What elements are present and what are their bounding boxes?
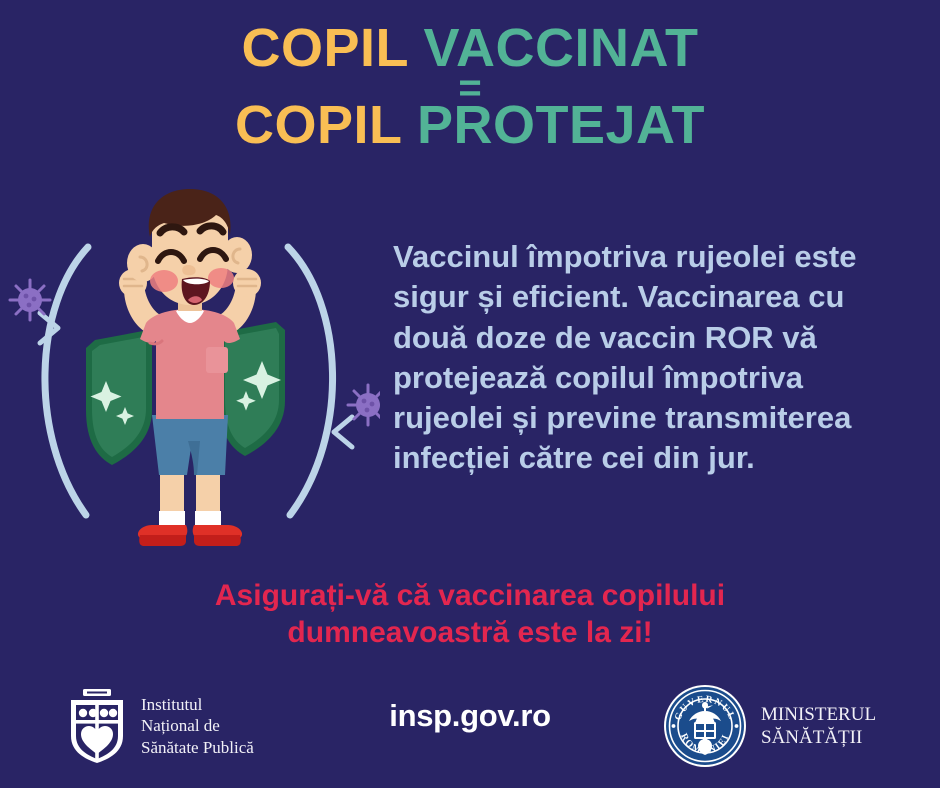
cta-line-1: Asigurați-vă că vaccinarea copilului	[70, 578, 870, 615]
headline-copil-1: COPIL	[241, 18, 408, 78]
ministry-name: MINISTERUL SĂNĂTĂȚII	[761, 703, 876, 749]
virus-particle-right	[348, 385, 380, 425]
headline-copil-2: COPIL	[235, 95, 402, 155]
cta-line-2: dumneavoastră este la zi!	[70, 615, 870, 652]
call-to-action: Asigurați-vă că vaccinarea copilului dum…	[70, 578, 870, 651]
arrow-right-icon	[334, 417, 352, 447]
ministry-logo: GUVERNUL ROMÂNIEI	[663, 684, 876, 768]
protection-arc-left	[45, 247, 88, 515]
insp-line-2: Național de	[141, 715, 254, 736]
insp-logo: Institutul Național de Sănătate Publică	[66, 688, 254, 764]
headline-line-2: COPIL PROTEJAT	[0, 99, 940, 152]
body-paragraph: Vaccinul împotriva rujeolei este sigur ș…	[393, 237, 903, 479]
website-url[interactable]: insp.gov.ro	[330, 698, 610, 734]
headline-protejat: PROTEJAT	[417, 95, 705, 155]
insp-line-1: Institutul	[141, 694, 254, 715]
insp-line-3: Sănătate Publică	[141, 737, 254, 758]
child-illustration	[0, 185, 380, 575]
poster-canvas: COPIL VACCINAT = COPIL PROTEJAT	[0, 0, 940, 788]
insp-name: Institutul Național de Sănătate Publică	[141, 694, 254, 757]
virus-particle-left	[10, 280, 50, 320]
poster-headline: COPIL VACCINAT = COPIL PROTEJAT	[0, 22, 940, 152]
footer-bar: Institutul Național de Sănătate Publică …	[0, 672, 940, 782]
protection-arc-right	[288, 247, 333, 515]
ministry-line-1: MINISTERUL	[761, 703, 876, 726]
ministry-line-2: SĂNĂTĂȚII	[761, 726, 876, 749]
shield-left-icon	[86, 331, 152, 465]
government-seal-icon: GUVERNUL ROMÂNIEI	[663, 684, 747, 768]
insp-shield-icon	[66, 688, 128, 764]
